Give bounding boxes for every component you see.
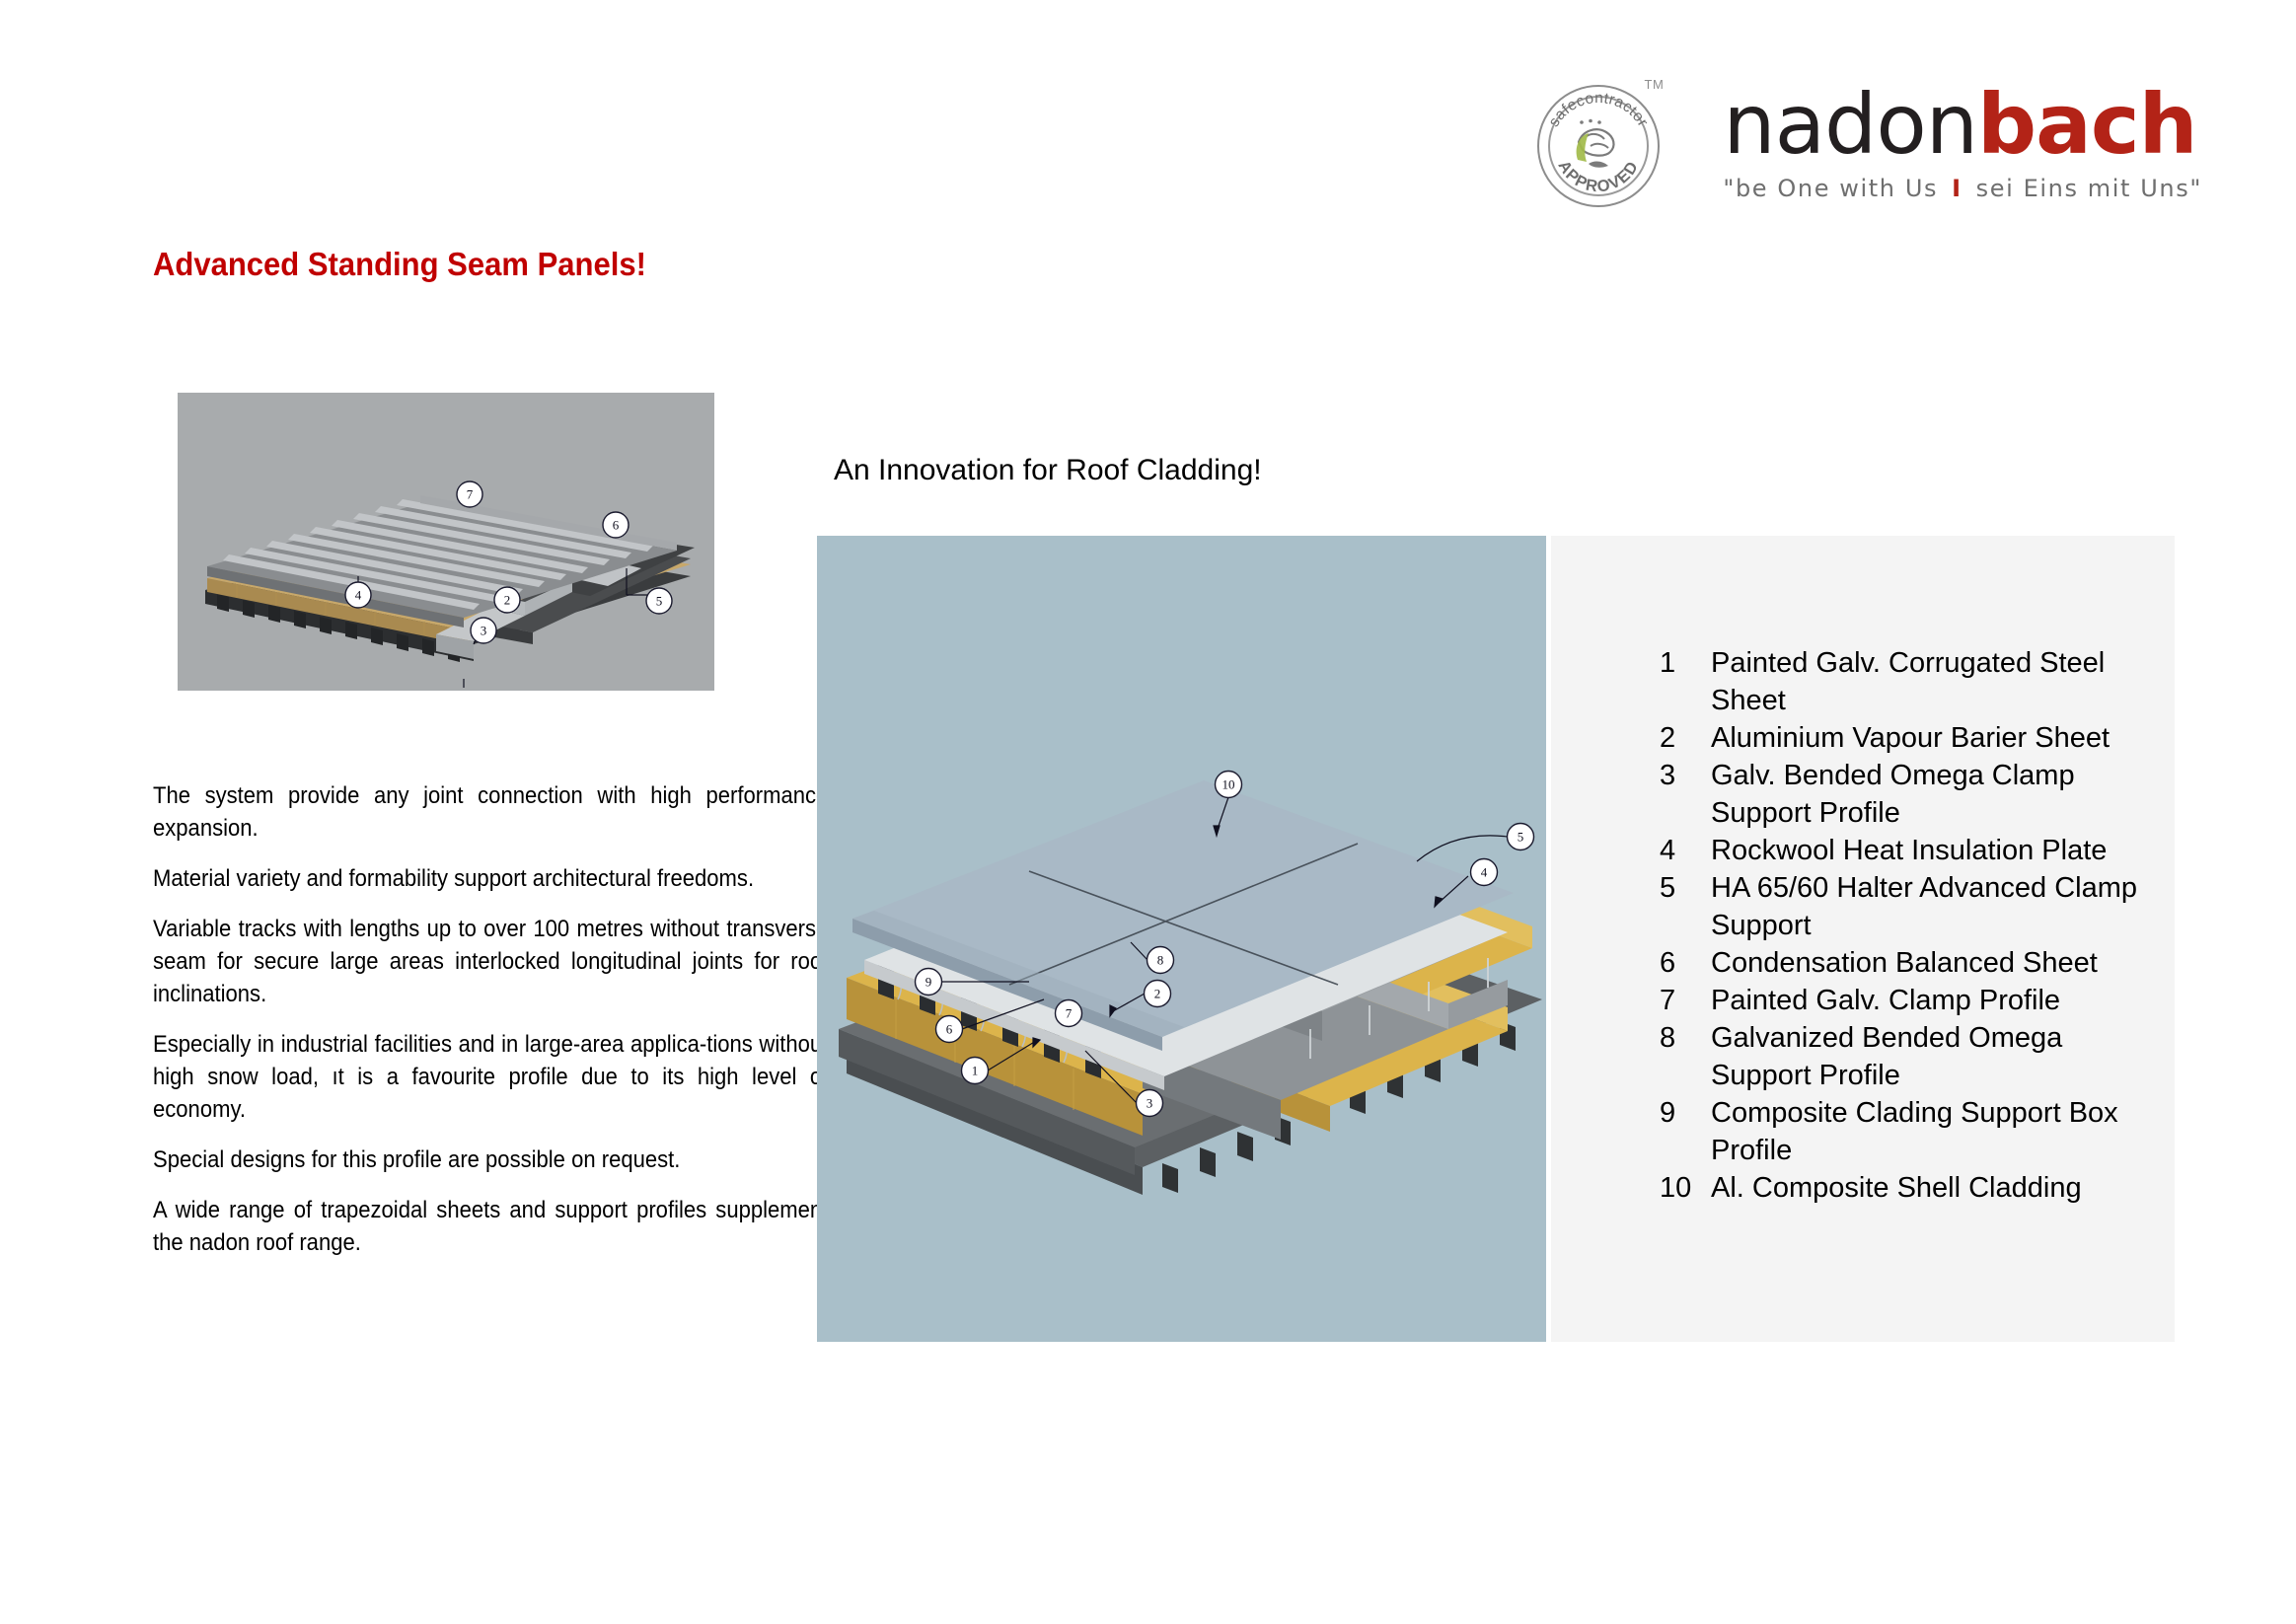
- main-callout-5-label: 5: [1518, 830, 1524, 845]
- main-callout-8-label: 8: [1157, 953, 1164, 968]
- main-callout-3: 3: [1137, 1090, 1163, 1117]
- logo-text-nadon: nadon: [1723, 76, 1977, 173]
- safecontractor-approved-badge-icon: TM safecontractor APPROVED: [1535, 77, 1671, 213]
- legend-item-7-number: 7: [1660, 982, 1711, 1019]
- thumbnail-callout-6: 6: [603, 512, 629, 538]
- legend-item-2-number: 2: [1660, 719, 1711, 757]
- logo-wordmark-line: nadonbach: [1723, 81, 2202, 168]
- legend-item-8-label: Galvanized Bended Omega Support Profile: [1711, 1019, 2153, 1094]
- legend-item-1-label: Painted Galv. Corrugated Steel Sheet: [1711, 644, 2153, 719]
- main-figure-artwork: 10 5 4 9 6 1 7 8: [817, 536, 1546, 1342]
- legend-item-10-number: 10: [1660, 1169, 1711, 1207]
- legend-item-2-label: Aluminium Vapour Barier Sheet: [1711, 719, 2153, 757]
- thumbnail-artwork: 7 6 4 2 3 5: [178, 393, 714, 691]
- legend-item-2: 2 Aluminium Vapour Barier Sheet: [1660, 719, 2153, 757]
- legend-item-8: 8 Galvanized Bended Omega Support Profil…: [1660, 1019, 2153, 1094]
- legend-item-5-number: 5: [1660, 869, 1711, 907]
- legend-item-3-label: Galv. Bended Omega Clamp Support Profile: [1711, 757, 2153, 832]
- legend-item-6: 6 Condensation Balanced Sheet: [1660, 944, 2153, 982]
- legend-item-8-number: 8: [1660, 1019, 1711, 1057]
- main-callout-1-label: 1: [972, 1064, 979, 1078]
- legend-item-3-number: 3: [1660, 757, 1711, 794]
- paragraph-5: Special designs for this profile are pos…: [153, 1144, 828, 1176]
- standing-seam-thumbnail-figure: 7 6 4 2 3 5: [178, 393, 714, 691]
- tagline-separator: I: [1938, 174, 1976, 203]
- thumbnail-callout-4: 4: [345, 582, 371, 608]
- main-callout-6-label: 6: [946, 1022, 953, 1037]
- main-callout-4: 4: [1471, 859, 1498, 886]
- thumbnail-callout-7-label: 7: [467, 487, 474, 502]
- main-callout-4-label: 4: [1481, 865, 1488, 880]
- thumbnail-callout-5: 5: [646, 588, 672, 614]
- paragraph-2: Material variety and formability support…: [153, 862, 828, 895]
- legend-item-10: 10 Al. Composite Shell Cladding: [1660, 1169, 2153, 1207]
- thumbnail-callout-5-label: 5: [656, 594, 663, 609]
- legend-item-9-number: 9: [1660, 1094, 1711, 1132]
- main-callout-9-label: 9: [926, 975, 932, 990]
- page-title: Advanced Standing Seam Panels!: [153, 245, 646, 284]
- badge-artwork: safecontractor APPROVED: [1535, 77, 1671, 213]
- legend-item-1-number: 1: [1660, 644, 1711, 682]
- paragraph-6: A wide range of trapezoidal sheets and s…: [153, 1194, 828, 1259]
- tagline-german: sei Eins mit Uns": [1976, 174, 2202, 203]
- main-callout-7-label: 7: [1066, 1006, 1073, 1021]
- legend-item-4: 4 Rockwool Heat Insulation Plate: [1660, 832, 2153, 869]
- section-heading: An Innovation for Roof Cladding!: [834, 452, 1262, 489]
- legend-item-4-number: 4: [1660, 832, 1711, 869]
- legend-list: 1 Painted Galv. Corrugated Steel Sheet 2…: [1660, 644, 2153, 1207]
- legend-item-7-label: Painted Galv. Clamp Profile: [1711, 982, 2153, 1019]
- legend-item-3: 3 Galv. Bended Omega Clamp Support Profi…: [1660, 757, 2153, 832]
- thumbnail-callout-7: 7: [457, 481, 482, 507]
- legend-item-9-label: Composite Clading Support Box Profile: [1711, 1094, 2153, 1169]
- thumbnail-callout-2: 2: [494, 587, 520, 613]
- main-callout-10-label: 10: [1222, 777, 1235, 792]
- legend-item-6-label: Condensation Balanced Sheet: [1711, 944, 2153, 982]
- main-callout-2-label: 2: [1154, 987, 1161, 1001]
- brand-block: TM safecontractor APPROVED: [1535, 77, 2202, 213]
- logo-tagline: "be One with Us I sei Eins mit Uns": [1723, 174, 2202, 203]
- thumbnail-callout-2-label: 2: [504, 593, 511, 608]
- main-callout-5: 5: [1508, 824, 1534, 850]
- legend-item-9: 9 Composite Clading Support Box Profile: [1660, 1094, 2153, 1169]
- paragraph-1: The system provide any joint connection …: [153, 779, 828, 845]
- main-callout-9: 9: [916, 969, 942, 996]
- logo-text-bach: bach: [1977, 76, 2196, 173]
- nadonbach-logo: nadonbach "be One with Us I sei Eins mit…: [1723, 77, 2202, 203]
- thumbnail-callout-3: 3: [471, 618, 496, 643]
- thumbnail-callout-4-label: 4: [355, 588, 362, 603]
- tagline-english: "be One with Us: [1723, 174, 1938, 203]
- main-callout-10: 10: [1216, 772, 1242, 798]
- main-callout-2: 2: [1145, 981, 1171, 1007]
- main-callout-8: 8: [1148, 947, 1174, 974]
- roof-system-main-figure: 10 5 4 9 6 1 7 8: [817, 536, 1546, 1342]
- main-callout-1: 1: [962, 1058, 989, 1084]
- thumbnail-callout-3-label: 3: [481, 624, 487, 638]
- legend-item-10-label: Al. Composite Shell Cladding: [1711, 1169, 2153, 1207]
- legend-item-4-label: Rockwool Heat Insulation Plate: [1711, 832, 2153, 869]
- legend-item-5: 5 HA 65/60 Halter Advanced Clamp Support: [1660, 869, 2153, 944]
- thumbnail-callout-6-label: 6: [613, 518, 620, 533]
- legend-item-7: 7 Painted Galv. Clamp Profile: [1660, 982, 2153, 1019]
- paragraph-4: Especially in industrial facilities and …: [153, 1028, 828, 1126]
- page-header: TM safecontractor APPROVED: [0, 0, 2296, 247]
- legend-item-5-label: HA 65/60 Halter Advanced Clamp Support: [1711, 869, 2153, 944]
- legend-item-1: 1 Painted Galv. Corrugated Steel Sheet: [1660, 644, 2153, 719]
- component-legend-panel: 1 Painted Galv. Corrugated Steel Sheet 2…: [1551, 536, 2175, 1342]
- main-callout-3-label: 3: [1147, 1096, 1153, 1111]
- legend-item-6-number: 6: [1660, 944, 1711, 982]
- paragraph-3: Variable tracks with lengths up to over …: [153, 913, 828, 1010]
- main-callout-6: 6: [936, 1016, 963, 1043]
- description-text-block: The system provide any joint connection …: [153, 779, 829, 1259]
- main-callout-7: 7: [1056, 1000, 1082, 1027]
